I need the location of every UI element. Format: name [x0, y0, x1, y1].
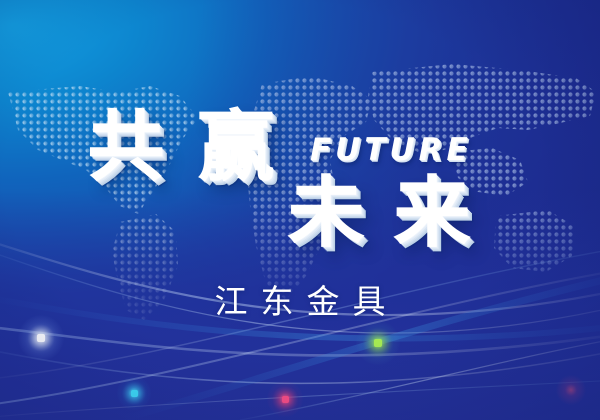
company-name-subtitle: 江东金具: [0, 275, 600, 323]
headline-line-1: 共 赢: [88, 112, 274, 182]
english-word-future: FUTURE: [310, 132, 472, 168]
banner-content: 共 赢 FUTURE 未 来 江东金具: [0, 0, 600, 420]
headline-char-wei: 未: [288, 178, 364, 248]
promotional-banner: 共 赢 FUTURE 未 来 江东金具: [0, 0, 600, 420]
headline-char-ying: 赢: [198, 112, 274, 182]
headline-line-2: 未 来: [288, 178, 470, 248]
headline-char-gong: 共: [88, 112, 164, 182]
headline-char-lai: 来: [394, 178, 470, 248]
